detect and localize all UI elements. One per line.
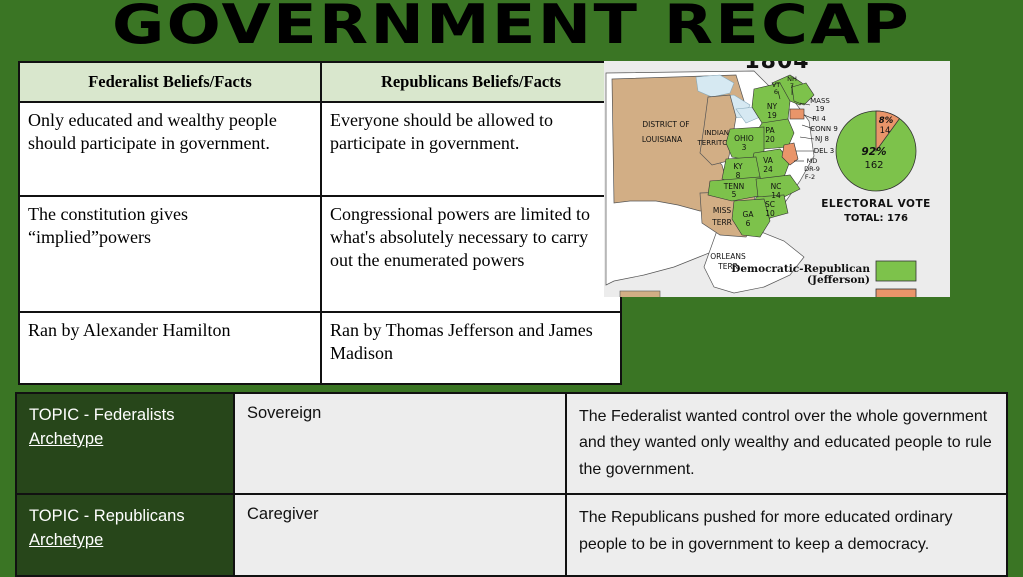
cell-republicans-1: Everyone should be allowed to participat… [321, 102, 621, 196]
label-pa: PA [765, 126, 775, 135]
table-row: Only educated and wealthy people should … [19, 102, 621, 196]
comparison-table: Federalist Beliefs/Facts Republicans Bel… [18, 61, 622, 385]
label-mass: MASS [810, 97, 830, 105]
election-map-1804: 1804 DISTRICT OF LOUISIANA INDIANA TERRI… [604, 61, 950, 297]
svg-text:(Jefferson): (Jefferson) [807, 274, 870, 286]
column-header-republicans: Republicans Beliefs/Facts [321, 62, 621, 102]
label-del: DEL 3 [814, 147, 834, 155]
svg-text:14: 14 [771, 191, 781, 200]
pie-slice-label-federalist-value: 14 [880, 126, 891, 136]
archetype-table: TOPIC - Federalists Archetype Sovereign … [15, 392, 1008, 577]
label-ga: GA [743, 210, 755, 219]
map-year-label: 1804 [604, 61, 950, 74]
svg-text:F-2: F-2 [805, 173, 815, 181]
svg-text:19: 19 [816, 105, 825, 113]
electoral-vote-total: TOTAL: 176 [844, 213, 908, 224]
archetype-description-republicans: The Republicans pushed for more educated… [566, 494, 1007, 576]
table-row: TOPIC - Federalists Archetype Sovereign … [16, 393, 1007, 494]
table-header-row: Federalist Beliefs/Facts Republicans Bel… [19, 62, 621, 102]
label-orleans-terr: ORLEANS [710, 252, 746, 261]
svg-text:8: 8 [736, 171, 741, 180]
label-miss-terr: MISS [713, 206, 731, 215]
cell-federalist-2: The constitution gives “implied”powers [19, 196, 321, 312]
archetype-label-federalists: Archetype [29, 428, 221, 452]
svg-text:TERR: TERR [711, 218, 732, 227]
table-row: Ran by Alexander Hamilton Ran by Thomas … [19, 312, 621, 384]
topic-label-republicans: TOPIC - Republicans [29, 505, 221, 529]
label-district-of-louisiana: DISTRICT OF [642, 120, 689, 129]
svg-text:DR-9: DR-9 [804, 165, 820, 173]
label-conn: CONN 9 [810, 125, 838, 133]
map-svg: DISTRICT OF LOUISIANA INDIANA TERRITORY … [604, 61, 950, 297]
label-ri: RI 4 [812, 115, 826, 123]
pie-slice-label-dr-value: 162 [864, 160, 883, 171]
column-header-federalist: Federalist Beliefs/Facts [19, 62, 321, 102]
state-conn [790, 109, 804, 119]
label-ohio: OHIO [734, 134, 754, 143]
cell-federalist-3: Ran by Alexander Hamilton [19, 312, 321, 384]
label-ky: KY [733, 162, 743, 171]
svg-text:5: 5 [732, 190, 737, 199]
pie-slice-label-dr-pct: 92% [861, 146, 886, 158]
svg-text:19: 19 [767, 111, 777, 120]
cell-republicans-3: Ran by Thomas Jefferson and James Madiso… [321, 312, 621, 384]
label-ny: NY [767, 102, 778, 111]
label-nj: NJ 8 [815, 135, 829, 143]
label-sc: SC [765, 200, 775, 209]
cell-republicans-2: Congressional powers are limited to what… [321, 196, 621, 312]
topic-cell-federalists: TOPIC - Federalists Archetype [16, 393, 234, 494]
archetype-value-republicans: Caregiver [234, 494, 566, 576]
label-nc: NC [771, 182, 782, 191]
slide-canvas: GOVERNMENT RECAP Federalist Beliefs/Fact… [0, 0, 1023, 577]
table-row: TOPIC - Republicans Archetype Caregiver … [16, 494, 1007, 576]
page-title: GOVERNMENT RECAP [0, 0, 1023, 54]
svg-text:6: 6 [746, 219, 751, 228]
topic-label-federalists: TOPIC - Federalists [29, 404, 221, 428]
label-va: VA [763, 156, 774, 165]
svg-text:6: 6 [774, 88, 778, 96]
legend-swatch-federalist [876, 289, 916, 297]
svg-text:24: 24 [763, 165, 773, 174]
label-md: MD [807, 157, 818, 165]
svg-text:LOUISIANA: LOUISIANA [642, 135, 683, 144]
svg-text:20: 20 [765, 135, 775, 144]
cell-federalist-1: Only educated and wealthy people should … [19, 102, 321, 196]
pie-slice-label-federalist-pct: 8% [879, 116, 894, 126]
topic-cell-republicans: TOPIC - Republicans Archetype [16, 494, 234, 576]
svg-text:3: 3 [742, 143, 747, 152]
table-row: The constitution gives “implied”powers C… [19, 196, 621, 312]
archetype-value-federalists: Sovereign [234, 393, 566, 494]
electoral-vote-caption: ELECTORAL VOTE [821, 198, 931, 210]
electoral-vote-pie-chart: 8% 14 92% 162 [836, 111, 916, 191]
archetype-label-republicans: Archetype [29, 529, 221, 553]
svg-text:10: 10 [765, 209, 775, 218]
legend-swatch-democratic-republican [876, 261, 916, 281]
archetype-description-federalists: The Federalist wanted control over the w… [566, 393, 1007, 494]
